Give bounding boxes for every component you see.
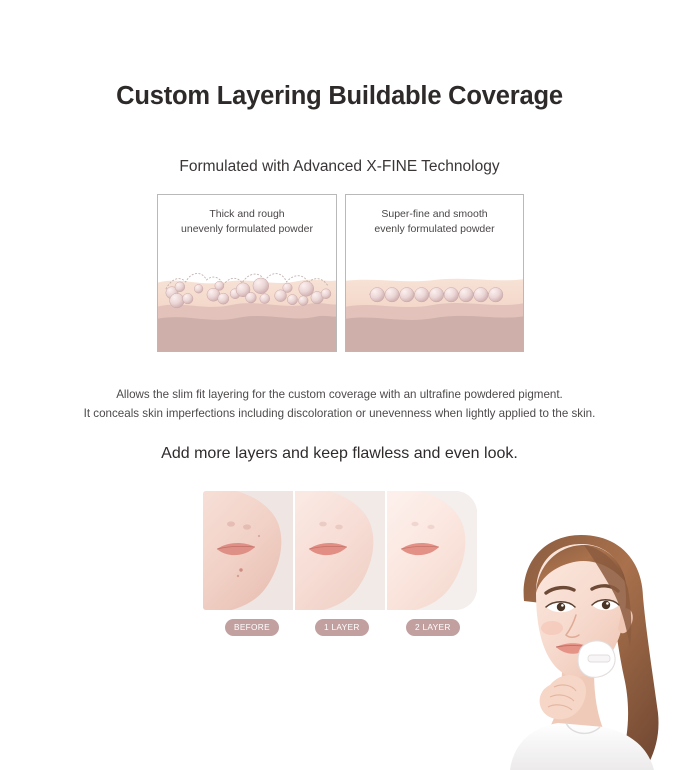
body-copy-line-2: It conceals skin imperfections including… <box>0 404 679 423</box>
panel-caption-uneven: Thick and rough unevenly formulated powd… <box>158 207 336 237</box>
panel-caption-line-2: evenly formulated powder <box>346 222 523 237</box>
label-before: BEFORE <box>225 619 279 636</box>
panel-caption-line-1: Super-fine and smooth <box>346 207 523 222</box>
powder-comparison-diagram: Thick and rough unevenly formulated powd… <box>157 194 524 352</box>
label-one-layer: 1 LAYER <box>315 619 369 636</box>
photo-two-layer <box>387 491 477 610</box>
before-after-photo-strip <box>203 491 477 610</box>
comparison-label-row: BEFORE 1 LAYER 2 LAYER <box>203 619 477 638</box>
panel-caption-even: Super-fine and smooth evenly formulated … <box>346 207 523 237</box>
photo-before <box>203 491 293 610</box>
label-two-layer: 2 LAYER <box>406 619 460 636</box>
page-subtitle: Formulated with Advanced X-FINE Technolo… <box>0 158 679 176</box>
page-title: Custom Layering Buildable Coverage <box>0 82 679 111</box>
body-copy-line-1: Allows the slim fit layering for the cus… <box>0 385 679 404</box>
photo-one-layer <box>295 491 385 610</box>
panel-caption-line-1: Thick and rough <box>158 207 336 222</box>
body-copy: Allows the slim fit layering for the cus… <box>0 385 679 423</box>
tagline: Add more layers and keep flawless and ev… <box>0 445 679 463</box>
diagram-panel-uneven: Thick and rough unevenly formulated powd… <box>157 194 337 352</box>
model-photo <box>480 527 679 770</box>
diagram-panel-even: Super-fine and smooth evenly formulated … <box>345 194 524 352</box>
panel-caption-line-2: unevenly formulated powder <box>158 222 336 237</box>
